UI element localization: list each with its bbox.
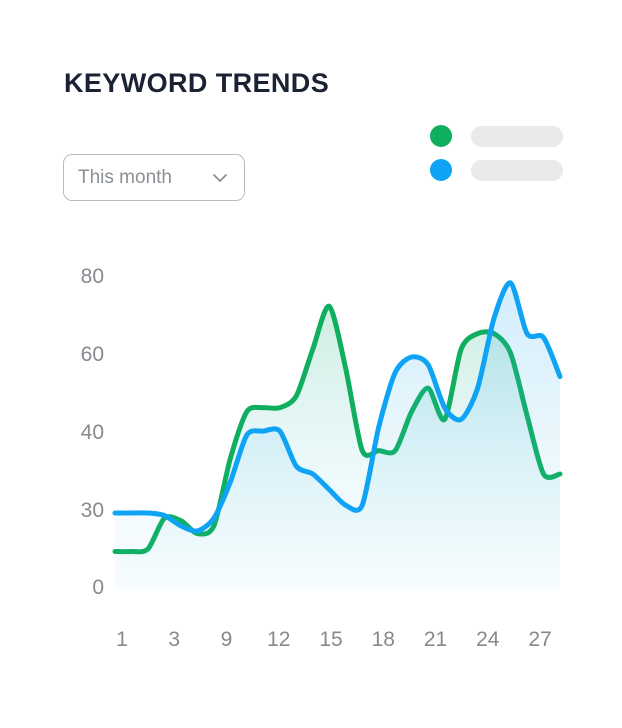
y-tick-label: 80 (81, 265, 104, 289)
y-tick-label: 60 (81, 343, 104, 367)
y-tick-label: 30 (81, 499, 104, 523)
x-tick-label: 9 (221, 628, 233, 652)
x-tick-label: 21 (424, 628, 447, 652)
x-tick-label: 1 (116, 628, 128, 652)
x-tick-label: 18 (372, 628, 395, 652)
x-tick-label: 12 (267, 628, 290, 652)
x-tick-label: 15 (319, 628, 342, 652)
x-tick-label: 3 (168, 628, 180, 652)
y-axis: 030406080 (56, 0, 104, 728)
x-tick-label: 24 (476, 628, 499, 652)
y-tick-label: 40 (81, 421, 104, 445)
keyword-trends-card: KEYWORD TRENDS This month (0, 0, 622, 728)
x-axis: 139121518212427 (0, 628, 622, 658)
y-tick-label: 0 (92, 576, 104, 600)
trend-chart: 030406080 139121518212427 (0, 0, 622, 728)
x-tick-label: 27 (528, 628, 551, 652)
